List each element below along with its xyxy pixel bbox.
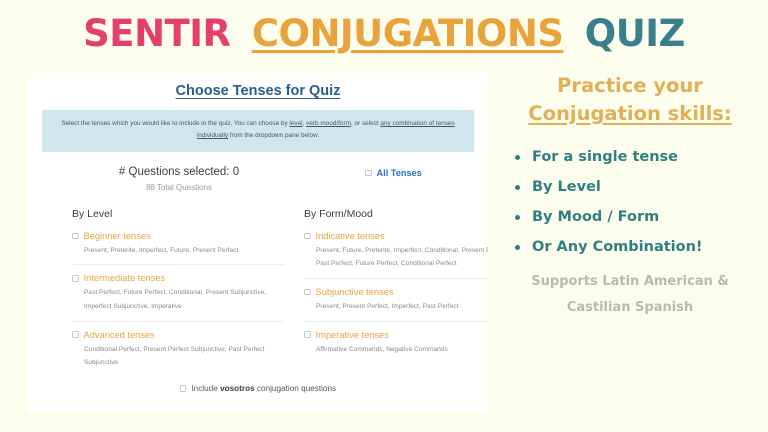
choose-tenses-card: Choose Tenses for Quiz Select the tenses… bbox=[28, 72, 488, 412]
vosotros-checkbox-row[interactable]: Include vosotros conjugation questions bbox=[28, 384, 488, 393]
info-text-part4: from the dropdown pane below. bbox=[228, 132, 319, 139]
title-space-2 bbox=[568, 12, 580, 55]
info-banner: Select the tenses which you would like t… bbox=[42, 110, 474, 152]
divider-mood-2 bbox=[304, 321, 488, 322]
checkbox-row-intermediate-tenses[interactable]: Intermediate tenses bbox=[72, 273, 284, 283]
info-text-part3: , or select bbox=[351, 120, 380, 127]
beginner-tenses-description: Present, Preterite, Imperfect, Future, P… bbox=[84, 244, 284, 258]
supports-note: Supports Latin American & Castilian Span… bbox=[492, 269, 768, 320]
checkbox-row-advanced-tenses[interactable]: Advanced tenses bbox=[72, 330, 284, 340]
all-tenses-label: All Tenses bbox=[377, 168, 422, 178]
subjunctive-tenses-description: Present, Present Perfect, Imperfect, Pas… bbox=[316, 300, 488, 314]
indicative-tenses-description: Present, Future, Preterite, Imperfect, C… bbox=[316, 244, 488, 271]
vosotros-suffix: conjugation questions bbox=[255, 384, 336, 393]
divider-level-2 bbox=[72, 321, 284, 322]
group-beginner-tenses: Beginner tenses Present, Preterite, Impe… bbox=[72, 231, 284, 258]
checkbox-row-subjunctive-tenses[interactable]: Subjunctive tenses bbox=[304, 287, 488, 297]
title-word-sentir: SENTIR bbox=[83, 12, 230, 55]
card-heading: Choose Tenses for Quiz bbox=[28, 83, 488, 99]
imperative-tenses-checkbox[interactable] bbox=[304, 331, 311, 338]
list-item: For a single tense bbox=[514, 149, 768, 165]
group-imperative-tenses: Imperative tenses Affirmative Commands, … bbox=[304, 330, 488, 357]
list-item: Or Any Combination! bbox=[514, 239, 768, 255]
intermediate-tenses-checkbox[interactable] bbox=[72, 275, 79, 282]
advanced-tenses-checkbox[interactable] bbox=[72, 331, 79, 338]
column-by-level: By Level Beginner tenses Present, Preter… bbox=[72, 208, 284, 370]
group-advanced-tenses: Advanced tenses Conditional Perfect, Pre… bbox=[72, 330, 284, 370]
vosotros-bold-word: vosotros bbox=[220, 384, 255, 393]
promo-heading-line2: Conjugation skills: bbox=[492, 100, 768, 128]
column-title-by-level: By Level bbox=[72, 208, 284, 220]
checkbox-row-beginner-tenses[interactable]: Beginner tenses bbox=[72, 231, 284, 241]
intermediate-tenses-label: Intermediate tenses bbox=[84, 273, 166, 283]
questions-selected-count: # Questions selected: 0 bbox=[84, 166, 274, 178]
vosotros-prefix: Include bbox=[191, 384, 220, 393]
list-item: By Mood / Form bbox=[514, 209, 768, 225]
checkbox-row-indicative-tenses[interactable]: Indicative tenses bbox=[304, 231, 488, 241]
counts-row: # Questions selected: 0 88 Total Questio… bbox=[28, 166, 488, 206]
group-subjunctive-tenses: Subjunctive tenses Present, Present Perf… bbox=[304, 287, 488, 314]
total-questions-count: 88 Total Questions bbox=[84, 183, 274, 192]
all-tenses-checkbox[interactable] bbox=[365, 170, 372, 177]
right-promo-panel: Practice your Conjugation skills: For a … bbox=[492, 72, 768, 422]
vosotros-checkbox[interactable] bbox=[180, 385, 187, 392]
divider-mood-1 bbox=[304, 278, 488, 279]
advanced-tenses-label: Advanced tenses bbox=[84, 330, 155, 340]
group-intermediate-tenses: Intermediate tenses Past Perfect, Future… bbox=[72, 273, 284, 313]
supports-line1: Supports Latin American & bbox=[492, 269, 768, 294]
title-space-1 bbox=[235, 12, 247, 55]
vosotros-label: Include vosotros conjugation questions bbox=[191, 384, 336, 393]
all-tenses-checkbox-row[interactable]: All Tenses bbox=[365, 168, 422, 178]
beginner-tenses-checkbox[interactable] bbox=[72, 233, 79, 240]
title-word-conjugations: CONJUGATIONS bbox=[252, 12, 564, 55]
imperative-tenses-description: Affirmative Commands, Negative Commands bbox=[316, 343, 488, 357]
divider-level-1 bbox=[72, 264, 284, 265]
checkbox-row-imperative-tenses[interactable]: Imperative tenses bbox=[304, 330, 488, 340]
indicative-tenses-checkbox[interactable] bbox=[304, 233, 311, 240]
list-item: By Level bbox=[514, 179, 768, 195]
indicative-tenses-label: Indicative tenses bbox=[316, 231, 385, 241]
promo-heading: Practice your Conjugation skills: bbox=[492, 72, 768, 127]
supports-line2: Castilian Spanish bbox=[492, 295, 768, 320]
group-indicative-tenses: Indicative tenses Present, Future, Prete… bbox=[304, 231, 488, 271]
column-by-form-mood: By Form/Mood Indicative tenses Present, … bbox=[304, 208, 488, 356]
column-title-by-form-mood: By Form/Mood bbox=[304, 208, 488, 220]
subjunctive-tenses-checkbox[interactable] bbox=[304, 289, 311, 296]
info-link-level[interactable]: level bbox=[289, 120, 302, 127]
page-title: SENTIR CONJUGATIONS QUIZ bbox=[0, 12, 768, 55]
advanced-tenses-description: Conditional Perfect, Present Perfect Sub… bbox=[84, 343, 284, 370]
info-link-verb-mood-form[interactable]: verb mood/form bbox=[306, 120, 351, 127]
promo-bullet-list: For a single tense By Level By Mood / Fo… bbox=[514, 149, 768, 255]
imperative-tenses-label: Imperative tenses bbox=[316, 330, 389, 340]
info-text-part1: Select the tenses which you would like t… bbox=[61, 120, 289, 127]
subjunctive-tenses-label: Subjunctive tenses bbox=[316, 287, 394, 297]
title-word-quiz: QUIZ bbox=[585, 12, 685, 55]
beginner-tenses-label: Beginner tenses bbox=[84, 231, 151, 241]
intermediate-tenses-description: Past Perfect, Future Perfect, Conditiona… bbox=[84, 286, 284, 313]
questions-selected-block: # Questions selected: 0 88 Total Questio… bbox=[84, 166, 274, 192]
promo-heading-line1: Practice your bbox=[492, 72, 768, 100]
